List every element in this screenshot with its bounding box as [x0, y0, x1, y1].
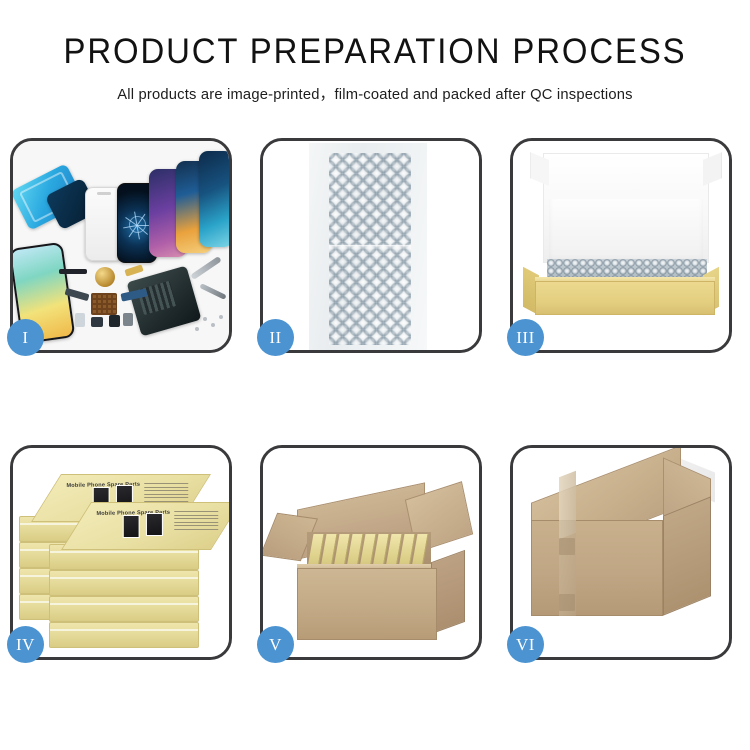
retail-box-front-3	[49, 596, 199, 622]
tape-tab-upper	[559, 538, 575, 555]
retail-box-front-2	[49, 570, 199, 596]
screw-2	[211, 323, 215, 327]
retail-box-front-4	[49, 622, 199, 648]
process-step-5[interactable]: V	[260, 445, 482, 660]
step-badge-4: IV	[7, 626, 44, 663]
process-step-2[interactable]: II	[260, 138, 482, 353]
phone-teal-wave	[199, 151, 229, 247]
step-3-image	[513, 141, 729, 350]
antenna-strip-part	[59, 269, 87, 274]
screwdriver-tool-icon	[190, 256, 222, 280]
screw-1	[203, 317, 207, 321]
step-badge-3: III	[507, 319, 544, 356]
small-part-1	[75, 313, 85, 327]
small-part-3	[109, 315, 120, 327]
box-screen-graphic-front-b	[146, 513, 163, 536]
box-front-panel	[535, 281, 715, 315]
step-6-image	[513, 448, 729, 657]
box-spec-lines-front	[174, 511, 218, 537]
retail-box-lid-front: Mobile Phone Spare Parts	[61, 502, 229, 550]
process-step-3[interactable]: III	[510, 138, 732, 353]
step-2-image	[263, 141, 479, 350]
step-4-image: Mobile Phone Spare Parts Mobile Phone Sp…	[13, 448, 229, 657]
step-badge-1: I	[7, 319, 44, 356]
step-5-image	[263, 448, 479, 657]
box-screen-graphic-front-a	[123, 515, 140, 538]
screw-4	[195, 327, 199, 331]
bubble-film-sleeve	[309, 143, 427, 350]
process-step-4[interactable]: Mobile Phone Spare Parts Mobile Phone Sp…	[10, 445, 232, 660]
small-part-2	[91, 317, 103, 327]
process-step-6[interactable]: VI	[510, 445, 732, 660]
step-1-image	[13, 141, 229, 350]
small-part-4	[123, 313, 133, 326]
page-title: PRODUCT PREPARATION PROCESS	[23, 34, 728, 69]
step-badge-2: II	[257, 319, 294, 356]
speaker-module-part	[95, 267, 115, 287]
page-header: PRODUCT PREPARATION PROCESS All products…	[0, 0, 750, 104]
screw-3	[219, 315, 223, 319]
sealed-carton-front	[531, 520, 663, 616]
gold-connector-part	[124, 264, 143, 276]
process-grid: I II III	[10, 138, 740, 660]
bubble-wrapped-item	[329, 153, 411, 345]
tweezers-tool-icon	[199, 283, 226, 300]
sealed-carton-side	[663, 496, 711, 615]
page-subtitle: All products are image-printed，film-coat…	[11, 82, 739, 104]
foam-sheet	[549, 199, 703, 263]
film-seam	[329, 245, 411, 250]
chip-grid-part	[91, 293, 117, 315]
carton-front-panel	[297, 568, 437, 640]
tape-tab-lower	[559, 594, 575, 611]
process-step-1[interactable]: I	[10, 138, 232, 353]
crack-pattern-icon	[122, 210, 152, 240]
step-badge-5: V	[257, 626, 294, 663]
step-badge-6: VI	[507, 626, 544, 663]
